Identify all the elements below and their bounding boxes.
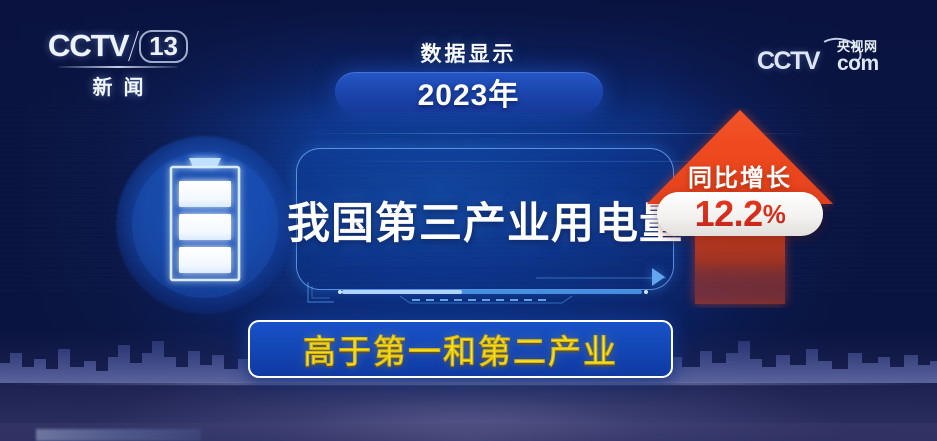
- battery-glyph: [116, 136, 294, 314]
- broadcast-graphic: CCTV 13 新闻 CCTV 央视网 com 数据显示 2023年: [0, 0, 937, 441]
- growth-value-pill: 12.2 %: [657, 192, 823, 236]
- year-pill: 2023年: [335, 72, 603, 112]
- bottom-banner: 高于第一和第二产业: [248, 320, 673, 378]
- cctv-13-subtitle: 新闻: [48, 71, 188, 100]
- growth-badge: 同比增长 12.2 %: [645, 108, 835, 308]
- horizon-line: [0, 383, 937, 385]
- growth-value: 12.2: [695, 196, 763, 232]
- bottom-banner-text: 高于第一和第二产业: [303, 325, 618, 373]
- headline-text: 我国第三产业用电量: [296, 185, 674, 255]
- year-label: 2023年: [418, 70, 520, 114]
- bottom-ticker-fragment: [36, 429, 201, 441]
- hud-decorative-lines: [300, 276, 672, 310]
- percent-symbol: %: [763, 201, 786, 227]
- battery-icon: [116, 136, 294, 314]
- growth-label: 同比增长: [645, 158, 835, 193]
- kicker-text: 数据显示: [0, 38, 937, 68]
